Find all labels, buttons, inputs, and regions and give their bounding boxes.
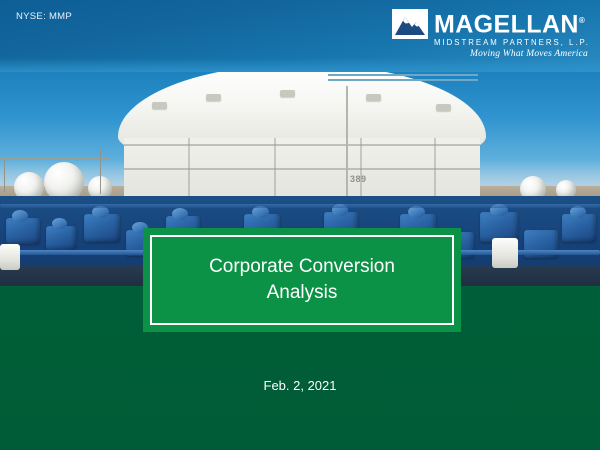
title-line-1: Corporate Conversion — [209, 256, 395, 277]
logo-wordmark: MAGELLAN® — [434, 8, 590, 37]
valve-unit — [46, 226, 76, 250]
power-line — [0, 158, 110, 159]
slide-date: Feb. 2, 2021 — [0, 378, 600, 393]
logo-subtitle: MIDSTREAM PARTNERS, L.P. — [434, 38, 590, 47]
tank-handrail — [328, 79, 478, 81]
valve-actuator — [12, 210, 28, 222]
slide-title: Corporate Conversion Analysis — [187, 254, 417, 306]
header-band: NYSE: MMP MAGELLAN® MIDSTREAM PARTNERS, … — [0, 0, 600, 72]
white-drum — [492, 238, 518, 268]
tank-number-label: 389 — [350, 174, 367, 184]
tank-vent — [206, 94, 221, 101]
tank-vent — [436, 104, 451, 111]
utility-pole — [4, 158, 5, 192]
title-line-2: Analysis — [267, 282, 338, 303]
white-drum — [0, 244, 20, 270]
logo-tagline: Moving What Moves America — [392, 49, 588, 59]
tank-band — [124, 168, 480, 170]
magellan-logo: MAGELLAN® MIDSTREAM PARTNERS, L.P. Movin… — [392, 8, 588, 64]
mountain-logo-icon — [392, 9, 428, 39]
registered-mark: ® — [579, 16, 585, 25]
tank-handrail — [328, 74, 478, 76]
valve-actuator — [172, 208, 188, 220]
pipe-run — [0, 204, 600, 208]
tank-vent — [152, 102, 167, 109]
tank-vent — [366, 94, 381, 101]
valve-unit — [562, 214, 596, 242]
utility-pole — [100, 150, 101, 194]
tank-vent — [280, 90, 295, 97]
valve-actuator — [52, 218, 67, 229]
tank-band — [124, 144, 480, 146]
title-box: Corporate Conversion Analysis — [143, 228, 461, 332]
valve-unit — [84, 214, 120, 242]
presentation-slide: 389 — [0, 0, 600, 450]
valve-unit — [6, 218, 40, 244]
stock-ticker: NYSE: MMP — [16, 11, 72, 22]
logo-name-text: MAGELLAN — [434, 10, 579, 38]
